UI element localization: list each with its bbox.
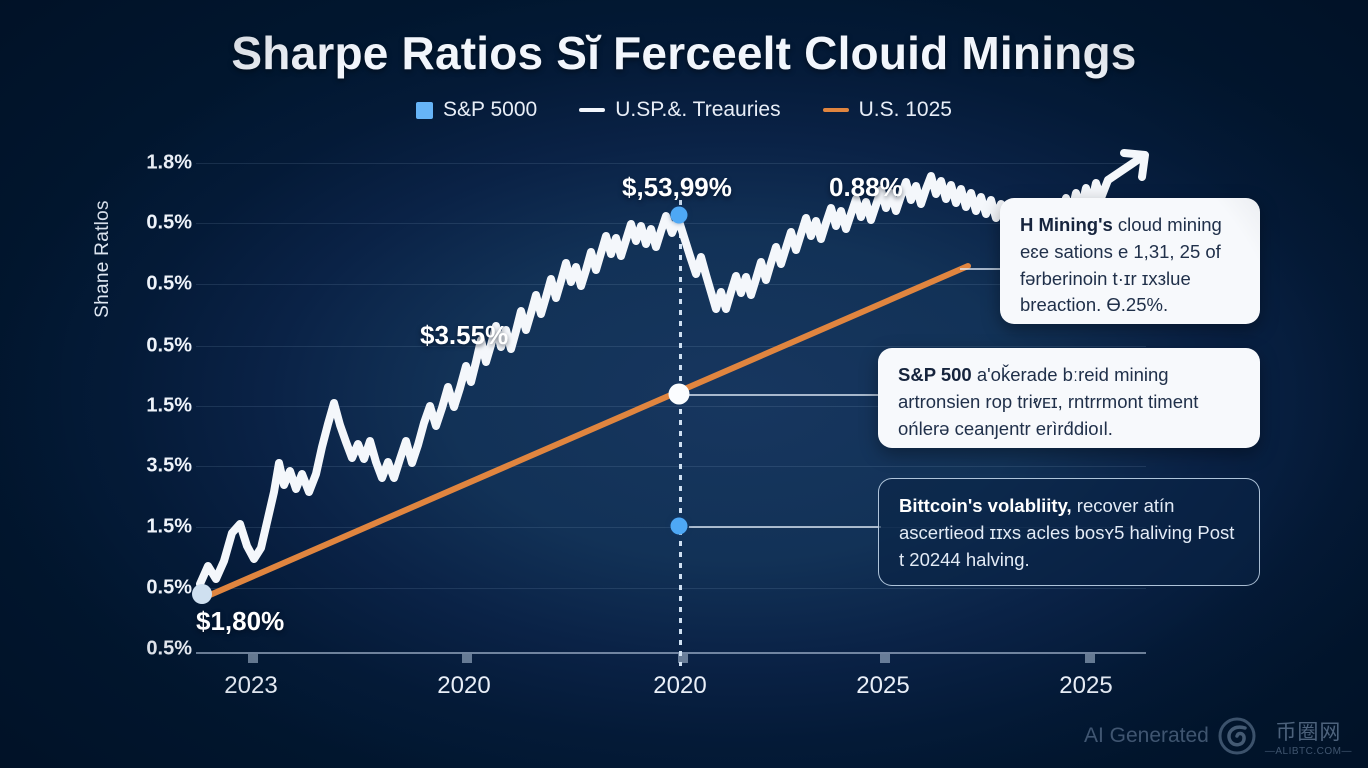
annotation-card-bitcoin[interactable]: Bittcoin's volabliity, recover atín asce…: [878, 478, 1260, 586]
chart-canvas: Sharpe Ratios Sĭ Ferceelt Clouid Minings…: [0, 0, 1368, 768]
point-value-label: 0.88%: [829, 172, 903, 203]
data-point-marker[interactable]: [671, 518, 688, 535]
point-value-label: $,53,99%: [622, 172, 732, 203]
arrow-head-icon: [1108, 153, 1145, 180]
watermark-brand: 币圈网 —ALIBTC.COM—: [1265, 716, 1352, 757]
annotation-lead: S&P 500: [898, 364, 972, 385]
us1025-trend-line: [203, 266, 968, 598]
data-point-marker[interactable]: [192, 584, 212, 604]
annotation-connector: [689, 394, 881, 396]
annotation-connector: [689, 526, 881, 528]
point-value-label: $1,80%: [196, 606, 284, 637]
watermark-brand-cn: 币圈网: [1275, 716, 1341, 746]
watermark-brand-en: —ALIBTC.COM—: [1265, 746, 1352, 757]
watermark: AI Generated 币圈网 —ALIBTC.COM—: [1084, 714, 1352, 758]
watermark-text: AI Generated: [1084, 724, 1209, 748]
annotation-connector: [960, 268, 1005, 270]
annotation-card-sp500[interactable]: S&P 500 a'oǩerade bːreid mining artronsi…: [878, 348, 1260, 448]
annotation-lead: H Mining's: [1020, 214, 1113, 235]
point-value-label: $3.55%: [420, 320, 508, 351]
data-point-marker[interactable]: [671, 207, 688, 224]
spiral-logo-icon: [1215, 714, 1259, 758]
annotation-card-mining[interactable]: H Mining's cloud mining eɛe sations e 1,…: [1000, 198, 1260, 324]
annotation-lead: Bittcoin's volabliity,: [899, 495, 1072, 516]
data-point-marker[interactable]: [669, 384, 690, 405]
